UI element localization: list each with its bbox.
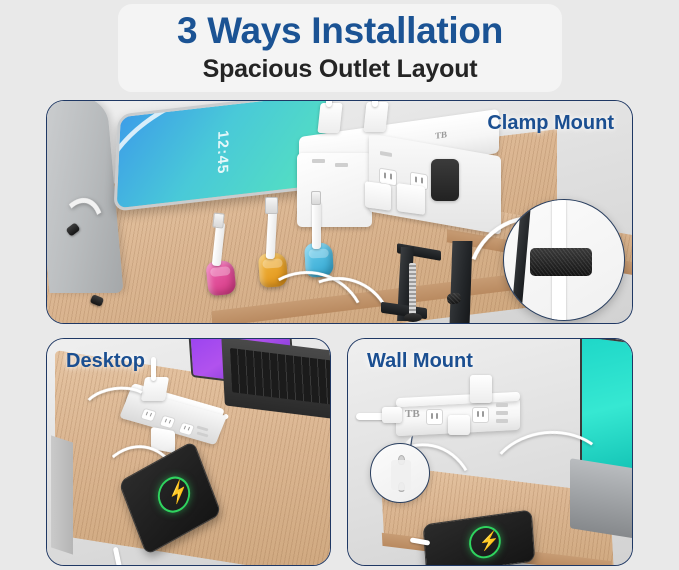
page-subtitle: Spacious Outlet Layout — [203, 55, 478, 84]
thumb-clip-pink — [205, 260, 236, 297]
panel-label-clamp-mount: Clamp Mount — [487, 112, 614, 135]
lightning-cable — [312, 201, 321, 249]
charger-brick-1 — [317, 103, 342, 133]
usb-port-1 — [496, 403, 508, 407]
strip-brand-logo: TB — [435, 130, 447, 141]
callout-strip-back — [391, 460, 411, 490]
page-title: 3 Ways Installation — [177, 12, 503, 51]
power-cord-plug — [382, 407, 402, 423]
usb-c-connector — [212, 212, 225, 228]
tablet-clock: 12:45 — [214, 129, 231, 175]
header-banner: 3 Ways Installation Spacious Outlet Layo… — [118, 4, 562, 92]
usb-port-3 — [496, 419, 508, 423]
usb-a-connector — [265, 197, 278, 214]
clamp-screw-shaft — [409, 263, 416, 317]
zoom-velcro-tie — [530, 248, 592, 276]
ac-outlet-2 — [472, 407, 489, 423]
plug-white-1 — [365, 181, 391, 211]
charger-cord — [151, 357, 156, 381]
velcro-tie-zoom-inset — [503, 199, 625, 321]
panel-desktop[interactable]: ⚡ Desktop — [46, 338, 331, 566]
desk-left-edge — [51, 435, 73, 554]
plug-white-2 — [397, 183, 425, 215]
ac-outlet-1 — [426, 409, 443, 425]
clamp-screw-knob — [404, 313, 422, 322]
charger-cord-1 — [326, 100, 332, 107]
charging-bolt-icon: ⚡ — [478, 531, 500, 551]
strip-brand-logo: TB — [405, 409, 420, 420]
lightning-connector — [311, 191, 321, 205]
panel-label-wall-mount: Wall Mount — [367, 350, 473, 373]
usb-port-2 — [496, 411, 508, 415]
panel-label-desktop: Desktop — [66, 350, 145, 373]
panel-wall-mount[interactable]: TB ⚡ Wall Mount — [347, 338, 633, 566]
usb-port-2 — [335, 163, 348, 167]
plug-black-adapter — [431, 159, 459, 201]
panel-clamp-mount[interactable]: 12:45 TB — [46, 100, 633, 324]
charger-cord-2 — [372, 100, 378, 107]
usb-port-1 — [312, 159, 325, 163]
keyhole-mount-callout — [370, 443, 430, 503]
phone-charger-plug — [448, 415, 470, 435]
